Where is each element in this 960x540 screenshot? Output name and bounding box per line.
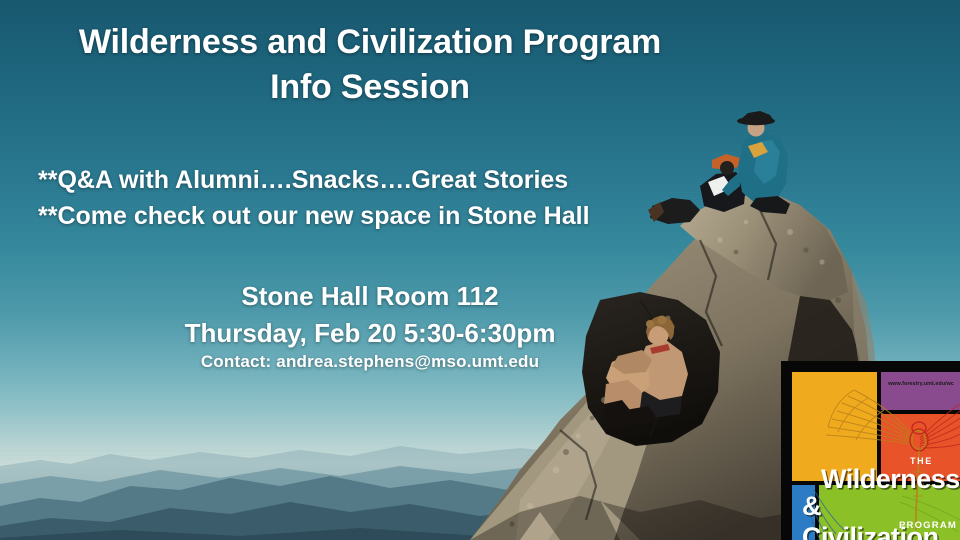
poster-contact: Contact: andrea.stephens@mso.umt.edu — [0, 352, 740, 372]
logo-inner: www.forestry.umt.edu/wc THE Wilderness &… — [792, 372, 960, 540]
wilderness-civilization-logo[interactable]: www.forestry.umt.edu/wc THE Wilderness &… — [781, 361, 960, 540]
logo-program-text: PROGRAM — [899, 520, 957, 531]
bullet-item-qa: **Q&A with Alumni….Snacks….Great Stories — [38, 163, 590, 199]
detail-datetime: Thursday, Feb 20 5:30-6:30pm — [0, 315, 740, 352]
poster-bullet-list: **Q&A with Alumni….Snacks….Great Stories… — [38, 163, 590, 234]
bullet-item-space: **Come check out our new space in Stone … — [38, 199, 590, 235]
logo-url-text: www.forestry.umt.edu/wc — [884, 382, 958, 387]
logo-civilization-text: & Civilization — [802, 491, 960, 540]
poster-title: Wilderness and Civilization Program Info… — [0, 20, 740, 110]
poster-canvas: Wilderness and Civilization Program Info… — [0, 0, 960, 540]
detail-location: Stone Hall Room 112 — [0, 278, 740, 315]
poster-details: Stone Hall Room 112 Thursday, Feb 20 5:3… — [0, 278, 740, 353]
